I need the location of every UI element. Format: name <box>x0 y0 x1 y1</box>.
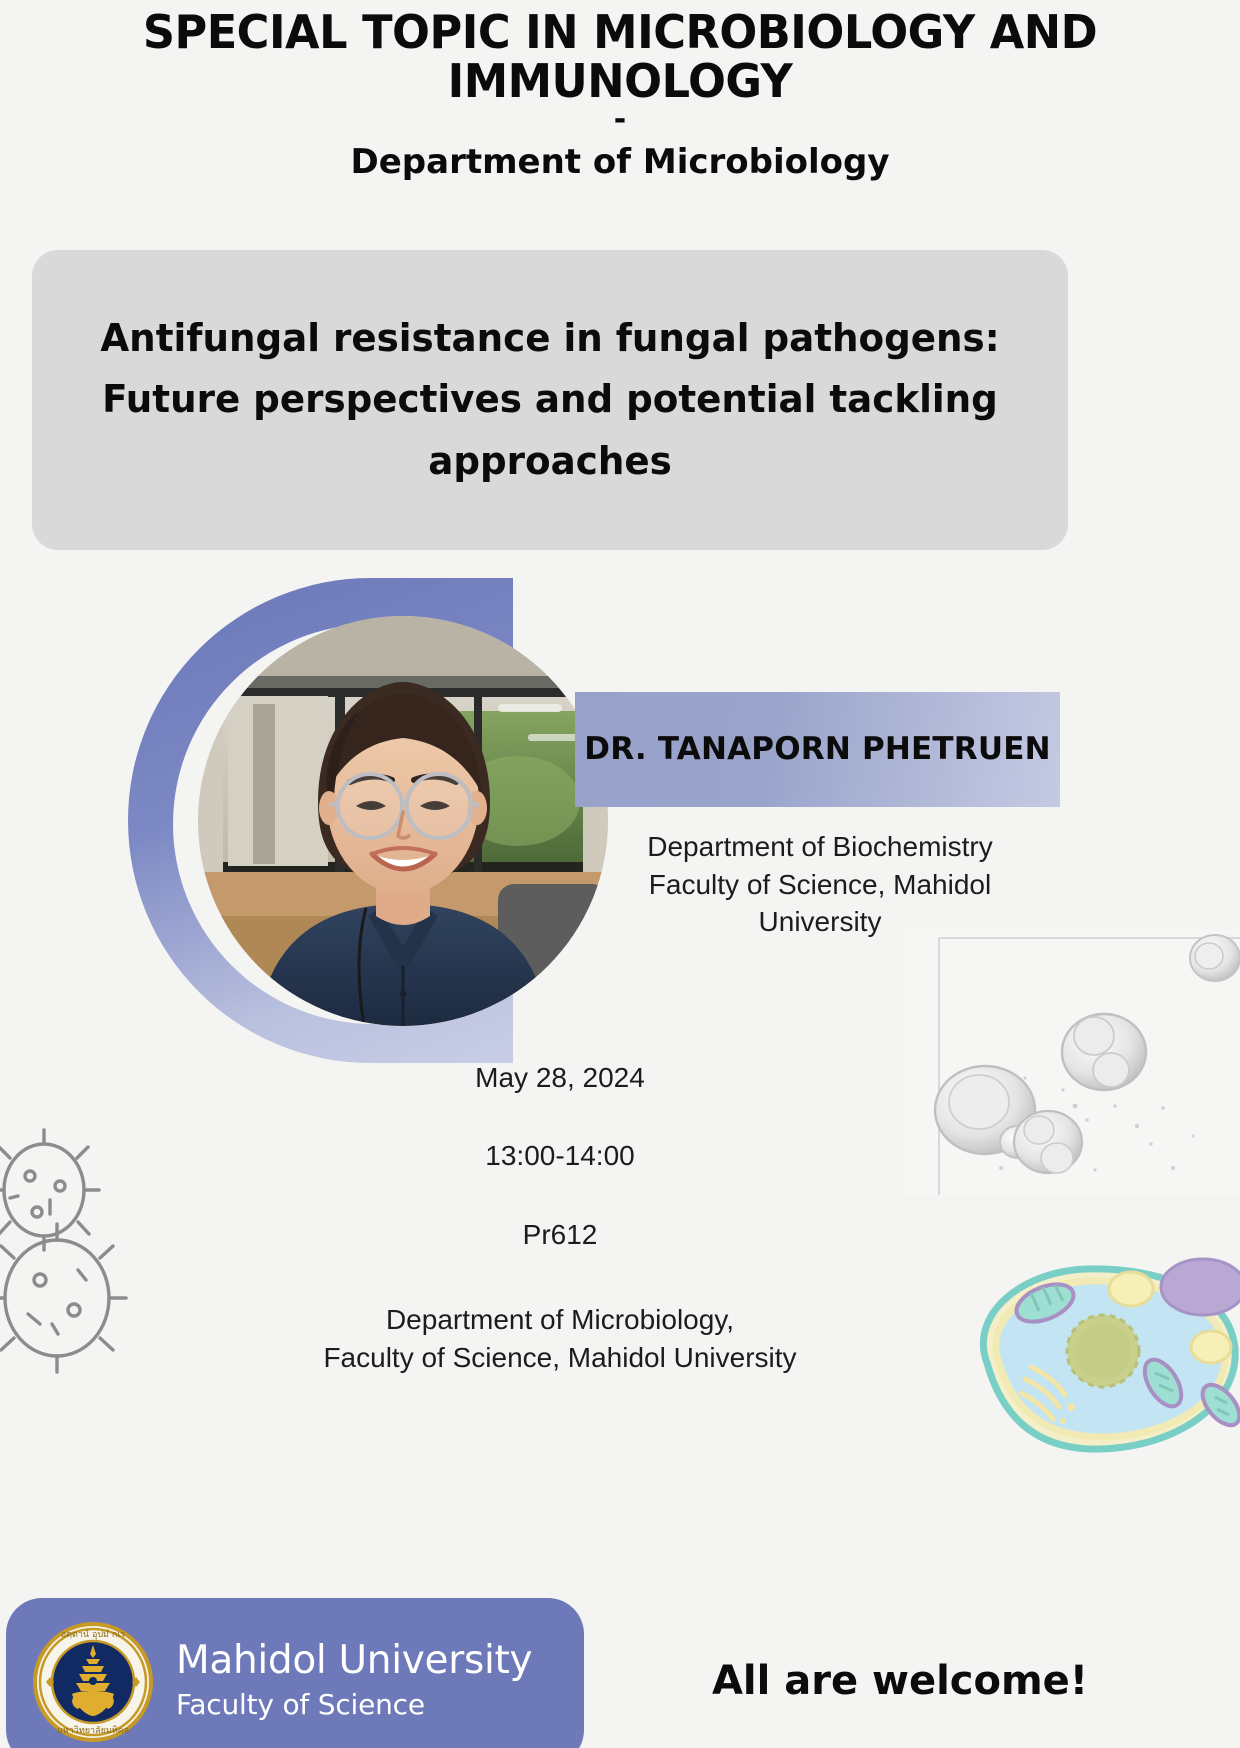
mahidol-logo-line-2: Faculty of Science <box>176 1686 532 1724</box>
event-host-line-2: Faculty of Science, Mahidol University <box>280 1339 840 1377</box>
seminar-poster: SPECIAL TOPIC IN MICROBIOLOGY AND IMMUNO… <box>0 0 1240 1748</box>
yeast-cells-image <box>905 930 1240 1195</box>
svg-text:อตฺตานํ อุปมํ กเร: อตฺตานํ อุปมํ กเร <box>61 1629 126 1640</box>
speaker-affiliation-line-1: Department of Biochemistry <box>600 828 1040 866</box>
welcome-message: All are welcome! <box>640 1658 1160 1704</box>
speaker-affiliation: Department of Biochemistry Faculty of Sc… <box>600 828 1040 941</box>
event-host-line-1: Department of Microbiology, <box>280 1301 840 1339</box>
mahidol-logo-text: Mahidol University Faculty of Science <box>176 1641 532 1724</box>
poster-header-dash: - <box>0 112 1240 129</box>
avatar <box>198 616 608 1026</box>
speaker-name: DR. TANAPORN PHETRUEN <box>584 730 1050 769</box>
mahidol-logo-pill: อตฺตานํ อุปมํ กเร มหาวิทยาลัยมหิดล <box>6 1598 584 1748</box>
event-details: May 28, 2024 13:00-14:00 Pr612 Departmen… <box>280 1060 840 1377</box>
speaker-name-banner: DR. TANAPORN PHETRUEN <box>575 692 1060 807</box>
mahidol-seal-icon: อตฺตานํ อุปมํ กเร มหาวิทยาลัยมหิดล <box>32 1621 154 1743</box>
poster-header: SPECIAL TOPIC IN MICROBIOLOGY AND IMMUNO… <box>0 8 1240 181</box>
speaker-photo-zone <box>128 566 628 1066</box>
talk-title-box: Antifungal resistance in fungal pathogen… <box>32 250 1068 550</box>
poster-header-title: SPECIAL TOPIC IN MICROBIOLOGY AND IMMUNO… <box>135 8 1105 106</box>
eukaryotic-cell-icon <box>935 1255 1240 1455</box>
event-host: Department of Microbiology, Faculty of S… <box>280 1301 840 1377</box>
event-room: Pr612 <box>280 1217 840 1253</box>
talk-title: Antifungal resistance in fungal pathogen… <box>80 308 1021 493</box>
svg-text:มหาวิทยาลัยมหิดล: มหาวิทยาลัยมหิดล <box>57 1725 129 1736</box>
event-date: May 28, 2024 <box>280 1060 840 1096</box>
speaker-affiliation-line-2: Faculty of Science, Mahidol <box>600 866 1040 904</box>
mahidol-logo-line-1: Mahidol University <box>176 1641 532 1682</box>
bacteria-icon <box>0 1128 152 1378</box>
poster-header-subtitle: Department of Microbiology <box>0 144 1240 181</box>
event-time: 13:00-14:00 <box>280 1138 840 1174</box>
